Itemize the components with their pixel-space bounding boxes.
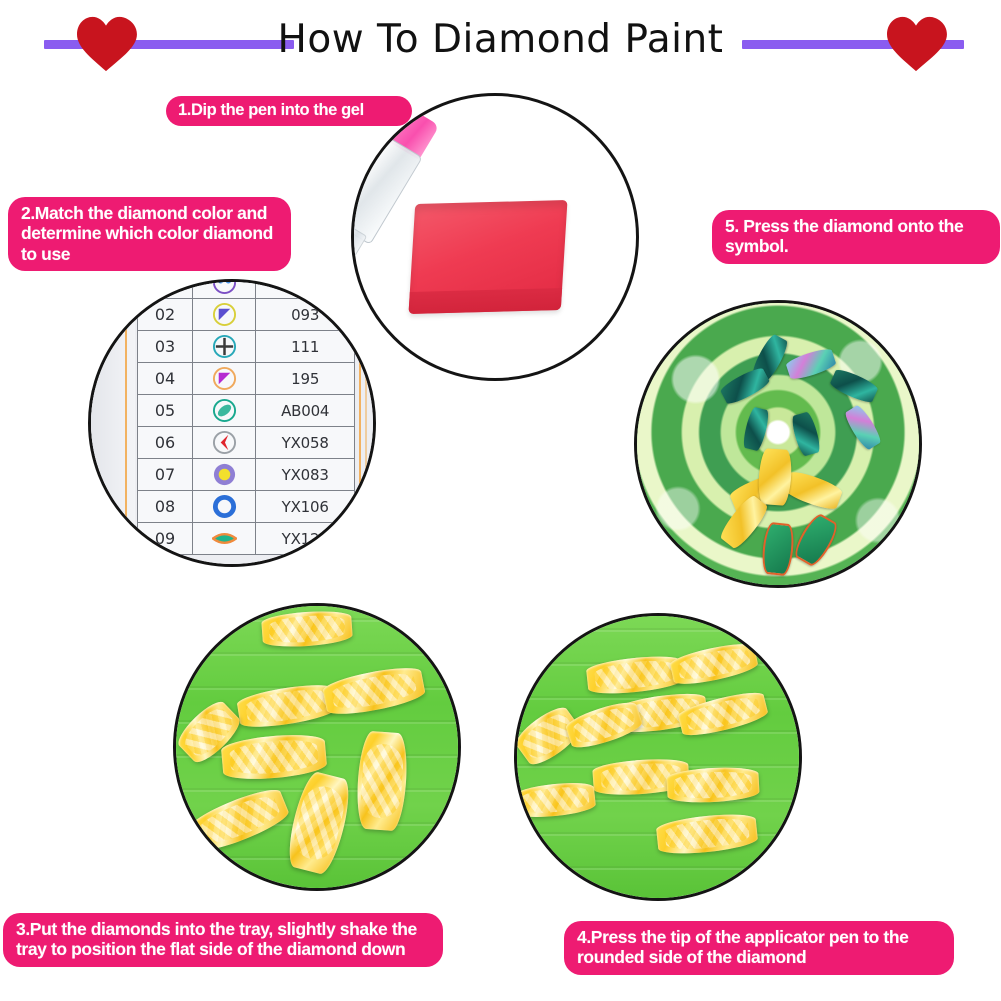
open-ring-symbol: [193, 491, 256, 523]
color-chart-table: 02002093031110419505AB00406YX05807YX0830…: [137, 279, 355, 555]
chart-margin-line-left: [125, 279, 127, 567]
chart-row-code: 093: [256, 299, 355, 331]
chart-row-code: 111: [256, 331, 355, 363]
chart-row-number: 02: [138, 299, 193, 331]
step-4-label: 4.Press the tip of the applicator pen to…: [564, 921, 954, 975]
chart-margin-line-right: [359, 279, 361, 567]
dot-in-ring-symbol: [193, 459, 256, 491]
chart-row-number: 07: [138, 459, 193, 491]
leaf-in-circle-symbol: [193, 395, 256, 427]
double-dot-circle-symbol: [193, 279, 256, 299]
step-1-photo: [351, 93, 639, 381]
color-chart-row: 08YX106: [138, 491, 355, 523]
chart-row-code: 020: [256, 279, 355, 299]
chart-row-number: 09: [138, 523, 193, 555]
gel-pad: [408, 200, 567, 314]
infographic-canvas: How To Diamond Paint 1.Dip the pen into …: [0, 0, 1001, 1001]
chart-row-code: YX106: [256, 491, 355, 523]
triangle-in-circle-symbol: [193, 363, 256, 395]
chart-row-number: 08: [138, 491, 193, 523]
pen-barrel: [351, 137, 423, 245]
color-chart-row: 06YX058: [138, 427, 355, 459]
color-chart-row: 05AB004: [138, 395, 355, 427]
chart-row-code: 195: [256, 363, 355, 395]
page-title: How To Diamond Paint: [0, 17, 1001, 62]
chart-row-number: 03: [138, 331, 193, 363]
color-chart-row: 07YX083: [138, 459, 355, 491]
gem-yellow: [757, 448, 793, 506]
chart-row-code: YX125: [256, 523, 355, 555]
chart-row-code: YX058: [256, 427, 355, 459]
triangle-in-circle-symbol: [193, 299, 256, 331]
arrow-in-circle-symbol: [193, 427, 256, 459]
step-5-photo: [634, 300, 922, 588]
chart-margin-line-right-2: [365, 279, 367, 567]
chart-row-number: [138, 279, 193, 299]
step-2-photo-color-chart: 02002093031110419505AB00406YX05807YX0830…: [88, 279, 376, 567]
color-chart-row: 03111: [138, 331, 355, 363]
chart-row-number: 04: [138, 363, 193, 395]
chart-row-code: YX083: [256, 459, 355, 491]
chart-row-number: 06: [138, 427, 193, 459]
color-chart-row: 04195: [138, 363, 355, 395]
step-3-photo: [173, 603, 461, 891]
chart-row-code: AB004: [256, 395, 355, 427]
color-chart-row: 02093: [138, 299, 355, 331]
step-2-label: 2.Match the diamond color and determine …: [8, 197, 291, 271]
chart-row-number: 05: [138, 395, 193, 427]
step-4-photo: [514, 613, 802, 901]
plus-in-circle-symbol: [193, 331, 256, 363]
color-chart-row: 020: [138, 279, 355, 299]
color-chart-row: 09YX125: [138, 523, 355, 555]
step-3-label: 3.Put the diamonds into the tray, slight…: [3, 913, 443, 967]
step-5-label: 5. Press the diamond onto the symbol.: [712, 210, 1000, 264]
pen-tip: [634, 377, 635, 442]
marquise-leaf-symbol: [193, 523, 256, 555]
header: How To Diamond Paint: [0, 0, 1001, 86]
